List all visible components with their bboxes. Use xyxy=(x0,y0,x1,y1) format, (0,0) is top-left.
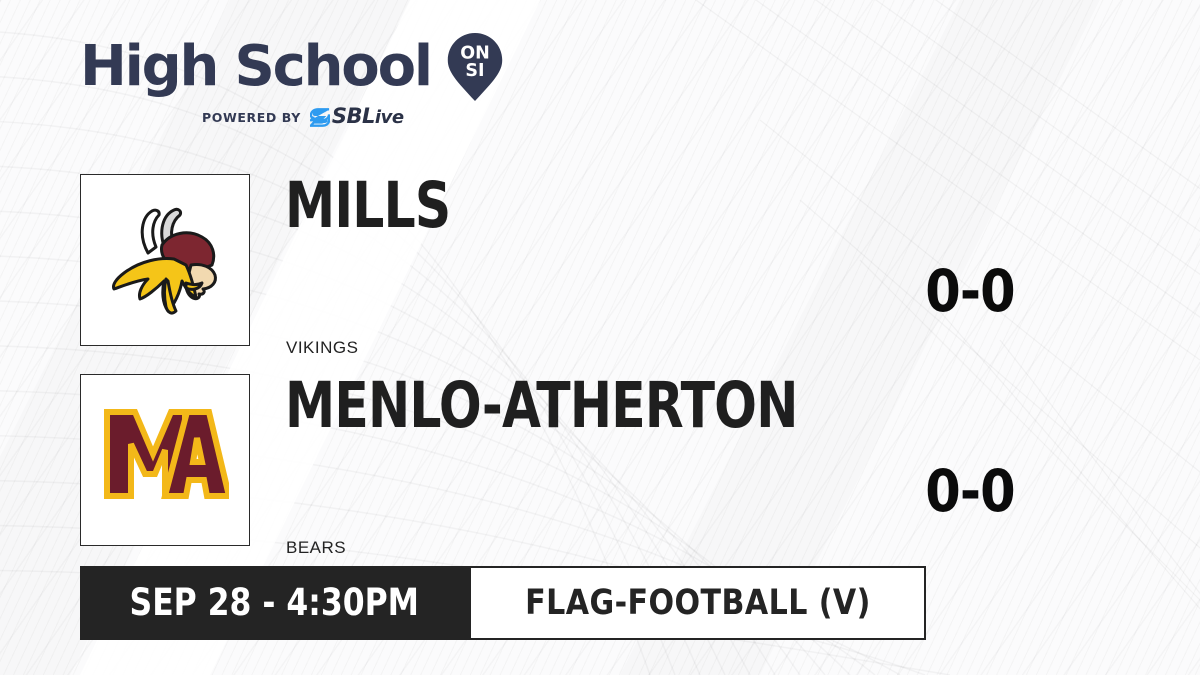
brand-wordmark-text: High School xyxy=(80,38,431,96)
sblive-s-icon xyxy=(310,108,330,127)
sblive-wordmark: SBLive xyxy=(332,106,404,128)
game-datetime-chip: SEP 28 - 4:30PM xyxy=(80,566,469,640)
brand-wordmark: High School ON SI xyxy=(80,36,510,98)
powered-by-label: POWERED BY xyxy=(202,110,301,125)
brand-logo-block: High School ON SI POWERED BY SBLive xyxy=(80,36,510,128)
pin-bottom-label: SI xyxy=(465,61,484,81)
powered-by-row: POWERED BY SBLive xyxy=(80,106,510,128)
game-sport-chip: FLAG-FOOTBALL (V) xyxy=(469,566,927,640)
game-sport-text: FLAG-FOOTBALL (V) xyxy=(525,585,871,621)
ma-monogram-logo xyxy=(101,400,229,520)
sblive-logo: SBLive xyxy=(310,106,404,128)
team-logo-box-menlo-atherton xyxy=(80,374,250,546)
on-si-pin-icon: ON SI xyxy=(445,32,505,102)
team-logo-box-mills xyxy=(80,174,250,346)
matchup-graphic: High School ON SI POWERED BY SBLive xyxy=(0,0,1200,675)
team-mascot-bears: BEARS xyxy=(286,538,346,558)
sblive-upper: SBL xyxy=(332,104,375,128)
team-record-mills: 0-0 xyxy=(873,262,1067,320)
viking-head-logo xyxy=(90,185,240,335)
team-mascot-vikings: VIKINGS xyxy=(286,338,358,358)
team-name-mills: MILLS xyxy=(285,174,450,238)
game-datetime-text: SEP 28 - 4:30PM xyxy=(130,584,419,622)
team-record-menlo-atherton: 0-0 xyxy=(873,462,1067,520)
team-name-menlo-atherton: MENLO-ATHERTON xyxy=(285,374,798,438)
sblive-lower: ive xyxy=(375,107,404,128)
game-info-bar: SEP 28 - 4:30PM FLAG-FOOTBALL (V) xyxy=(80,566,926,640)
